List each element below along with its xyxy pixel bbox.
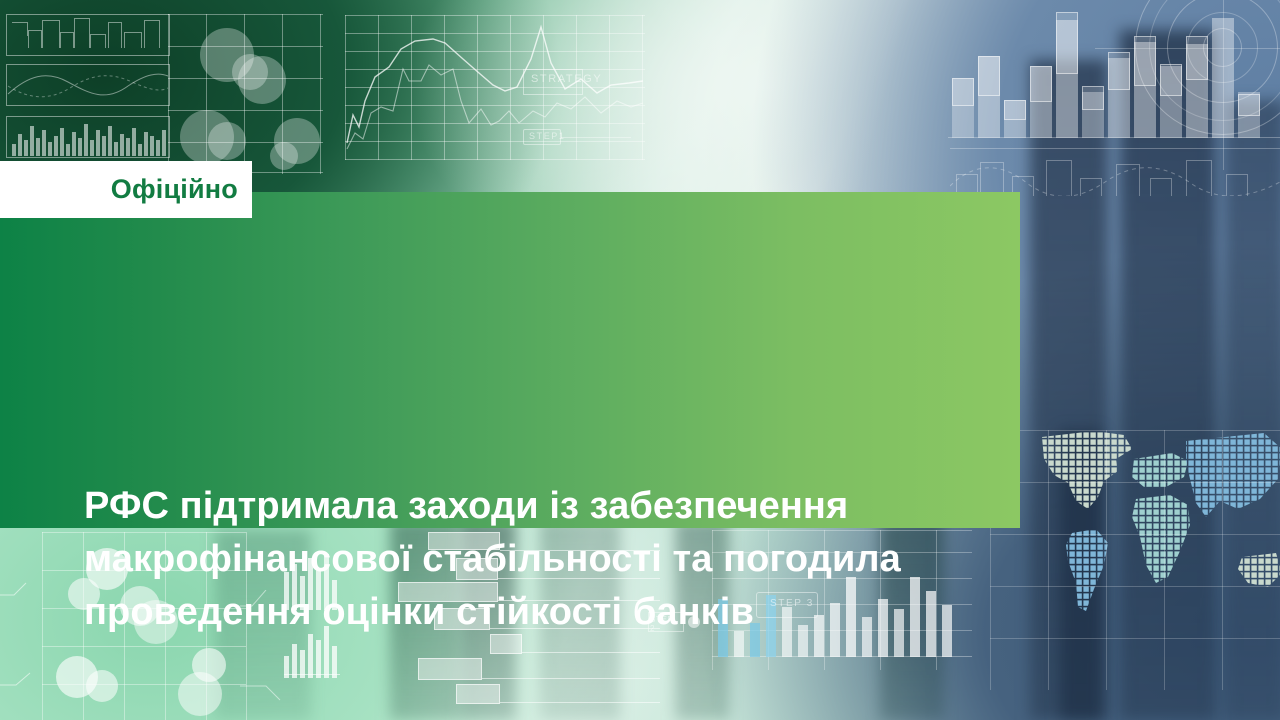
background-radar-rings — [1135, 0, 1280, 140]
background-label-strategy: STRATEGY — [531, 73, 602, 85]
status-badge-label: Офіційно — [111, 174, 238, 205]
background-squarewave-topright — [950, 148, 1280, 196]
headline-line-3: проведення оцінки стійкості банків — [84, 586, 994, 639]
background-label-step1: STEP1 — [529, 131, 566, 141]
news-banner: STRATEGY STEP1 — [0, 0, 1280, 720]
headline-panel: РФС підтримала заходи із забезпечення ма… — [0, 192, 1020, 528]
background-grid-bottomright — [990, 430, 1280, 690]
headline-line-1: РФС підтримала заходи із забезпечення — [84, 480, 994, 533]
status-badge: Офіційно — [0, 161, 252, 218]
page-title: РФС підтримала заходи із забезпечення ма… — [84, 480, 994, 639]
background-linechart-top: STRATEGY STEP1 — [345, 15, 645, 160]
background-chart-panel-topleft — [4, 12, 174, 182]
headline-line-2: макрофінансової стабільності та погодила — [84, 533, 994, 586]
